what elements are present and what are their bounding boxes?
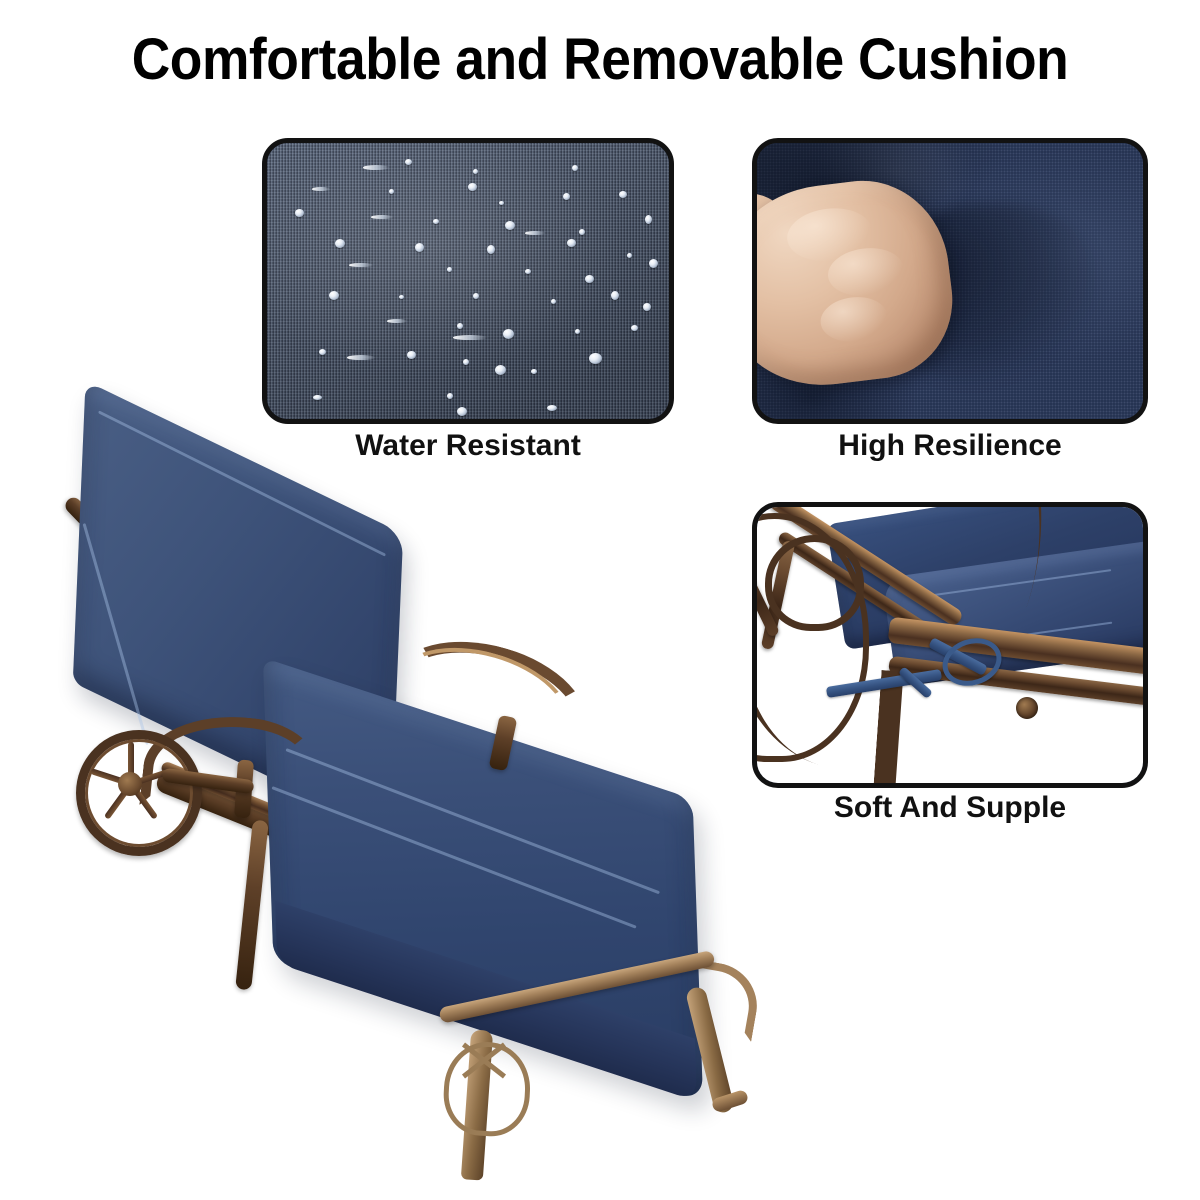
water-droplet-icon <box>551 299 556 304</box>
wheel-hub <box>118 772 142 796</box>
water-droplet-icon <box>531 369 537 374</box>
water-droplet-icon <box>405 159 412 165</box>
caption-soft-and-supple: Soft And Supple <box>752 790 1148 826</box>
water-droplet-icon <box>645 215 652 224</box>
feature-panel-water-resistant <box>262 138 674 424</box>
water-droplet-icon <box>349 263 373 267</box>
water-droplet-icon <box>495 365 506 375</box>
water-droplet-icon <box>457 407 467 416</box>
water-droplet-icon <box>503 329 514 339</box>
water-droplet-icon <box>525 231 545 235</box>
water-droplet-icon <box>487 245 495 254</box>
water-droplet-icon <box>319 349 326 355</box>
water-droplet-icon <box>649 259 658 268</box>
water-droplet-icon <box>547 405 557 411</box>
water-droplet-icon <box>312 187 330 191</box>
water-droplet-icon <box>399 295 404 299</box>
water-droplet-icon <box>579 229 585 235</box>
water-droplet-icon <box>371 215 393 219</box>
water-droplet-icon <box>567 239 576 247</box>
water-droplet-icon <box>295 209 304 217</box>
water-droplet-icon <box>627 253 632 258</box>
water-droplet-icon <box>335 239 345 248</box>
water-droplet-icon <box>463 359 469 365</box>
water-droplet-icon <box>453 335 487 340</box>
water-droplet-icon <box>505 221 515 230</box>
water-resistant-photo <box>267 143 669 419</box>
water-droplet-icon <box>499 201 504 205</box>
rear-leg <box>235 820 269 991</box>
water-droplet-icon <box>389 189 394 194</box>
water-droplet-icon <box>631 325 638 331</box>
water-droplet-icon <box>313 395 322 400</box>
water-droplet-icon <box>433 219 439 224</box>
water-droplet-icon <box>572 165 578 171</box>
water-droplet-icon <box>387 319 407 323</box>
page-title: Comfortable and Removable Cushion <box>48 26 1152 94</box>
water-droplet-icon <box>525 269 531 274</box>
water-droplet-icon <box>585 275 594 283</box>
water-droplet-icon <box>473 169 478 174</box>
water-droplet-icon <box>415 243 424 252</box>
water-droplet-icon <box>643 303 651 311</box>
water-droplet-icon <box>457 323 463 329</box>
high-resilience-photo <box>757 143 1143 419</box>
soft-and-supple-photo <box>757 507 1143 783</box>
water-droplet-icon <box>619 191 627 198</box>
water-droplet-icon <box>589 353 602 364</box>
water-droplet-icon <box>611 291 619 300</box>
water-droplet-icon <box>563 193 570 200</box>
water-droplet-icon <box>575 329 580 334</box>
water-droplet-icon <box>347 355 375 360</box>
frame-bottom-arc <box>865 670 1119 783</box>
water-droplet-icon <box>473 293 479 299</box>
water-droplet-icon <box>447 267 452 272</box>
caption-high-resilience: High Resilience <box>752 428 1148 464</box>
product-feature-image: Comfortable and Removable Cushion <box>0 0 1200 1200</box>
hero-product-chaise-lounge <box>40 430 780 1190</box>
water-droplet-icon <box>363 165 389 170</box>
feature-panel-soft-and-supple <box>752 502 1148 788</box>
feature-panel-high-resilience <box>752 138 1148 424</box>
water-droplet-icon <box>468 183 477 191</box>
water-droplet-icon <box>407 351 416 359</box>
water-droplet-icon <box>329 291 339 300</box>
water-droplet-icon <box>447 393 453 399</box>
